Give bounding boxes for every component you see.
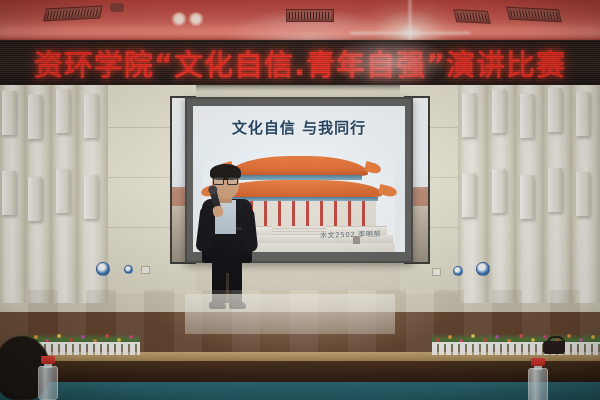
wall-outlet xyxy=(141,266,150,274)
ceiling-air-vent xyxy=(286,9,334,22)
ceiling-air-vent xyxy=(453,9,491,24)
wall-emblem-icon xyxy=(124,265,133,274)
flower-planter-right xyxy=(432,331,600,355)
led-banner: 资环学院“文化自信.青年自强”演讲比赛 xyxy=(0,40,600,85)
ceiling-fixture xyxy=(110,3,124,12)
camera-bag xyxy=(543,341,565,354)
water-bottle-right xyxy=(528,358,548,400)
glasses-icon xyxy=(213,177,238,183)
stage-riser xyxy=(185,294,395,334)
front-row-table xyxy=(0,382,600,400)
banner-text: 资环学院“文化自信.青年自强”演讲比赛 xyxy=(0,42,600,84)
wall-emblem-icon xyxy=(476,262,490,276)
auditorium-photo: 资环学院“文化自信.青年自强”演讲比赛 xyxy=(0,0,600,400)
ceiling-spotlight xyxy=(171,12,187,26)
wall-emblem-icon xyxy=(453,266,463,276)
slide-title: 文化自信 与我同行 xyxy=(193,117,405,138)
water-bottle-left xyxy=(38,356,58,400)
acoustic-panel-column-left xyxy=(0,85,108,303)
banner-glare xyxy=(330,40,450,85)
wall-outlet xyxy=(432,268,441,276)
slide-signature: 水文2502 李明郝 xyxy=(320,229,381,241)
ceiling-spotlight xyxy=(188,12,204,26)
wall-emblem-icon xyxy=(96,262,110,276)
stage-apron xyxy=(0,361,600,382)
